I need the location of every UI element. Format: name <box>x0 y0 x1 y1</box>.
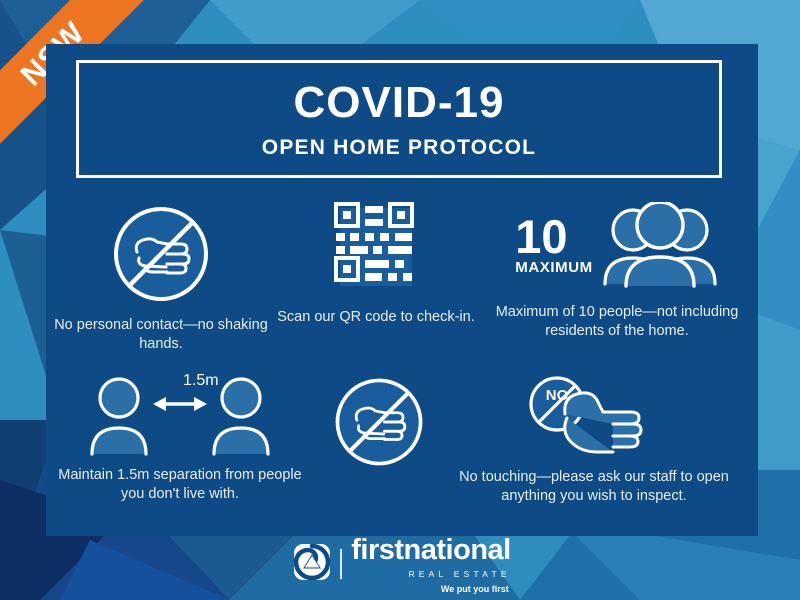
protocol-item-qr: Scan our QR code to check-in. <box>276 202 476 355</box>
max-number-label: MAXIMUM <box>515 259 593 276</box>
group-of-people-icon <box>599 202 719 293</box>
protocol-item-distance: 1.5m Maintain 1.5m separation from peo <box>46 374 314 507</box>
page-title: COVID-19 <box>294 81 505 125</box>
protocol-caption: Maximum of 10 people—not including resid… <box>476 303 758 342</box>
logo-subtitle: REAL ESTATE <box>408 569 510 579</box>
logo-divider <box>340 549 342 579</box>
protocol-row-1: No personal contact—no shaking hands. <box>46 202 758 355</box>
protocol-caption: Maintain 1.5m separation from people you… <box>46 466 314 505</box>
protocol-item-max-people: 10 MAXIMUM <box>476 202 758 355</box>
max-people-group: 10 MAXIMUM <box>515 202 719 293</box>
protocol-item-no-touching: NO No touching—please ask our staff to o… <box>444 374 744 507</box>
main-panel: COVID-19 OPEN HOME PROTOCOL <box>46 44 758 536</box>
protocol-caption: No touching—please ask our staff to open… <box>444 468 744 507</box>
infographic-canvas: NSW COVID-19 OPEN HOME PROTOCOL <box>0 0 800 600</box>
max-number: 10 <box>515 215 567 258</box>
protocol-caption: No personal contact—no shaking hands. <box>46 316 276 355</box>
brand-logo: firstnational REAL ESTATE We put you fir… <box>46 534 758 594</box>
distance-label: 1.5m <box>183 372 219 390</box>
no-handshake-icon <box>109 202 213 306</box>
page-subtitle: OPEN HOME PROTOCOL <box>262 137 536 158</box>
social-distancing-icon: 1.5m <box>87 374 273 456</box>
qr-code-icon <box>332 202 420 298</box>
protocol-item-no-contact: No personal contact—no shaking hands. <box>46 202 276 355</box>
protocol-item-no-handshake-2 <box>314 374 444 507</box>
max-number-block: 10 MAXIMUM <box>515 215 593 280</box>
logo-name: firstnational <box>351 534 510 567</box>
logo-tagline: We put you first <box>441 584 511 594</box>
title-box: COVID-19 OPEN HOME PROTOCOL <box>76 60 722 178</box>
no-handshake-icon <box>331 374 427 470</box>
protocol-caption: Scan our QR code to check-in. <box>277 308 474 327</box>
first-national-mark-icon <box>293 543 331 586</box>
protocol-row-2: 1.5m Maintain 1.5m separation from peo <box>46 374 758 507</box>
no-touching-hand-icon: NO <box>519 374 669 458</box>
